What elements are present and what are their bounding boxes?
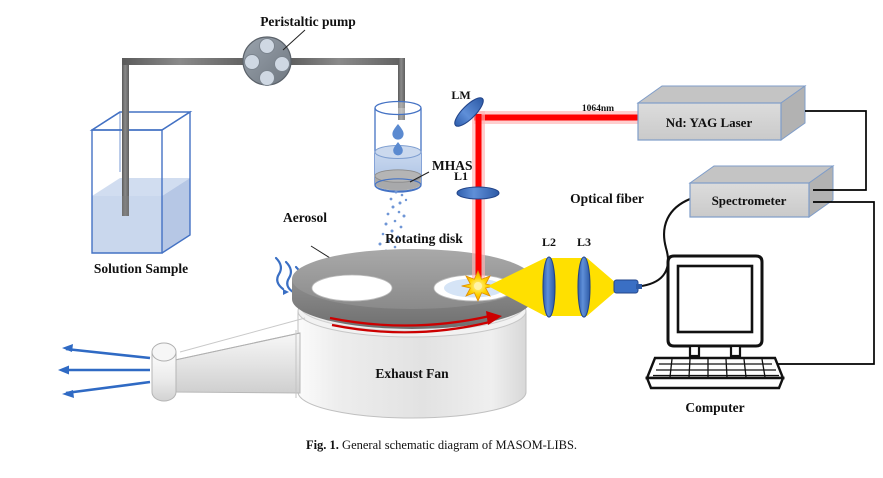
caption-text: General schematic diagram of MASOM-LIBS.: [342, 438, 577, 452]
tube-horizontal-left: [122, 58, 250, 65]
intake-tube-vertical: [122, 58, 129, 216]
figure-container: Peristaltic pump Solution Sample MHAS Ae…: [0, 0, 883, 478]
intake-tube-submerged: [122, 196, 129, 216]
pump-roller-bottom: [260, 71, 275, 86]
label-spectrometer: Spectrometer: [712, 193, 787, 208]
label-aerosol: Aerosol: [283, 210, 327, 225]
coupler-body: [614, 280, 638, 293]
spectrometer-box-top: [690, 166, 833, 183]
spark-core: [474, 282, 482, 290]
beam-core-vertical: [476, 114, 482, 286]
label-solution-sample: Solution Sample: [94, 261, 188, 276]
airflow-wave-2: [286, 262, 293, 292]
label-peristaltic-pump: Peristaltic pump: [260, 14, 356, 29]
monitor-screen: [678, 266, 752, 332]
mhas-glass-rim: [375, 102, 421, 115]
airflow-wave-1: [276, 258, 283, 289]
ndyag-laser-box[interactable]: [638, 86, 805, 140]
cone-focusing: [587, 258, 616, 316]
mhas-nebulizer: [375, 102, 421, 193]
pump-roller-right: [275, 57, 290, 72]
figure-caption: Fig. 1. General schematic diagram of MAS…: [0, 438, 883, 453]
monitor-stand-left: [690, 346, 699, 356]
tube-horizontal-right: [285, 58, 405, 65]
solution-sample-container: [92, 112, 190, 253]
cable-spectrometer-to-computer: [748, 202, 874, 364]
outflow-arrow-line-1: [66, 349, 150, 358]
l1-surface: [457, 187, 499, 199]
nozzle-rim: [152, 343, 176, 361]
disk-well-left: [312, 275, 392, 301]
coupler-connector: [636, 284, 642, 289]
beam-core-horizontal: [474, 115, 640, 121]
label-wavelength: 1064nm: [582, 104, 614, 114]
l3-surface: [578, 257, 590, 317]
spectrometer-box[interactable]: [690, 166, 833, 217]
caption-prefix: Fig. 1.: [306, 438, 339, 452]
signal-cables: [748, 111, 874, 364]
pump-leader-line: [283, 30, 305, 50]
pump-roller-left: [245, 55, 260, 70]
laser-box-top: [638, 86, 805, 103]
duct-body: [175, 333, 300, 393]
rotating-disk: [292, 249, 532, 332]
label-rotating-disk: Rotating disk: [385, 231, 463, 246]
label-ndyag-laser: Nd: YAG Laser: [666, 115, 753, 130]
l2-surface: [543, 257, 555, 317]
exhaust-outflow-arrows: [62, 349, 150, 393]
label-l2-lens: L2: [542, 235, 556, 249]
l2-lens: [543, 257, 555, 317]
label-lm-mirror: LM: [451, 88, 470, 102]
l1-lens: [457, 187, 499, 199]
computer-workstation[interactable]: [647, 256, 783, 388]
fiber-coupler: [614, 280, 642, 293]
pump-roller-top: [260, 39, 275, 54]
label-l3-lens: L3: [577, 235, 591, 249]
peristaltic-pump[interactable]: [243, 37, 291, 86]
outflow-arrow-line-3: [66, 382, 150, 393]
l3-lens: [578, 257, 590, 317]
monitor-stand-right: [731, 346, 740, 356]
sample-box-edge-left: [92, 112, 120, 130]
keyboard-base: [647, 378, 783, 388]
label-l1-lens: L1: [454, 169, 468, 183]
label-optical-fiber: Optical fiber: [570, 191, 644, 206]
label-computer: Computer: [685, 400, 744, 415]
masom-libs-schematic: Peristaltic pump Solution Sample MHAS Ae…: [0, 0, 883, 478]
label-exhaust-fan: Exhaust Fan: [375, 366, 449, 381]
exhaust-duct: [152, 318, 305, 401]
